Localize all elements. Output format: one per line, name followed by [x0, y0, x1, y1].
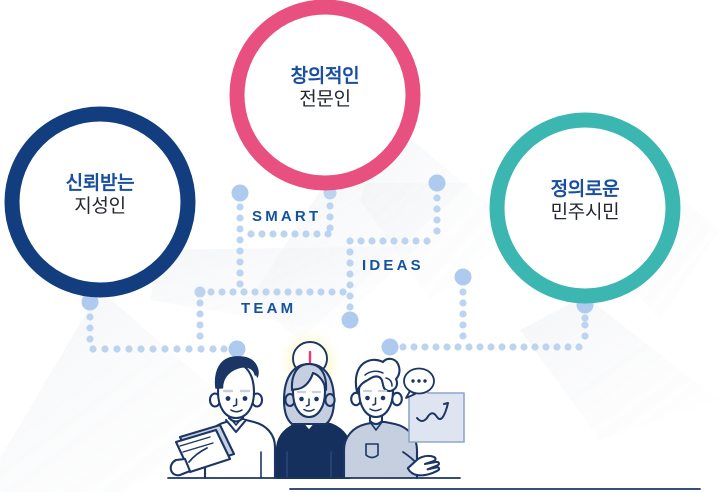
ring-just-citizen[interactable]: [497, 120, 673, 296]
scene-svg: [0, 0, 719, 492]
chart-document: [409, 388, 464, 442]
dots-team-left-leg: [196, 299, 203, 339]
path-label-team: TEAM: [241, 300, 296, 317]
path-node-right-lower-left: [382, 339, 399, 356]
dots-left-vertical: [86, 313, 93, 342]
figure-center: [277, 364, 350, 478]
figure-right: [344, 359, 464, 478]
path-node-ideas-top: [429, 175, 446, 192]
path-node-ideas-bottom: [342, 312, 359, 329]
path-label-ideas: IDEAS: [362, 257, 424, 274]
path-label-smart: SMART: [252, 208, 321, 225]
dots-right-vertical-b: [581, 314, 588, 339]
dots-smart-bottom: [247, 230, 331, 237]
ring-trusted-intellectual[interactable]: [12, 114, 188, 290]
dots-right-horizontal: [399, 343, 582, 350]
infographic-canvas: 신뢰받는 지성인 창의적인 전문인 정의로운 민주시민 SMART IDEAS …: [0, 0, 719, 492]
path-node-right-mid: [455, 269, 472, 286]
ground-lines: [168, 478, 700, 489]
path-node-team-left: [195, 287, 206, 298]
dots-smart-left-leg: [236, 203, 243, 287]
ring-creative-professional[interactable]: [237, 7, 413, 183]
path-node-smart-left: [232, 185, 249, 202]
path-node-left-bottom: [229, 341, 246, 358]
dots-smart-right-leg: [326, 202, 333, 231]
dots-right-vertical-a: [459, 288, 466, 339]
